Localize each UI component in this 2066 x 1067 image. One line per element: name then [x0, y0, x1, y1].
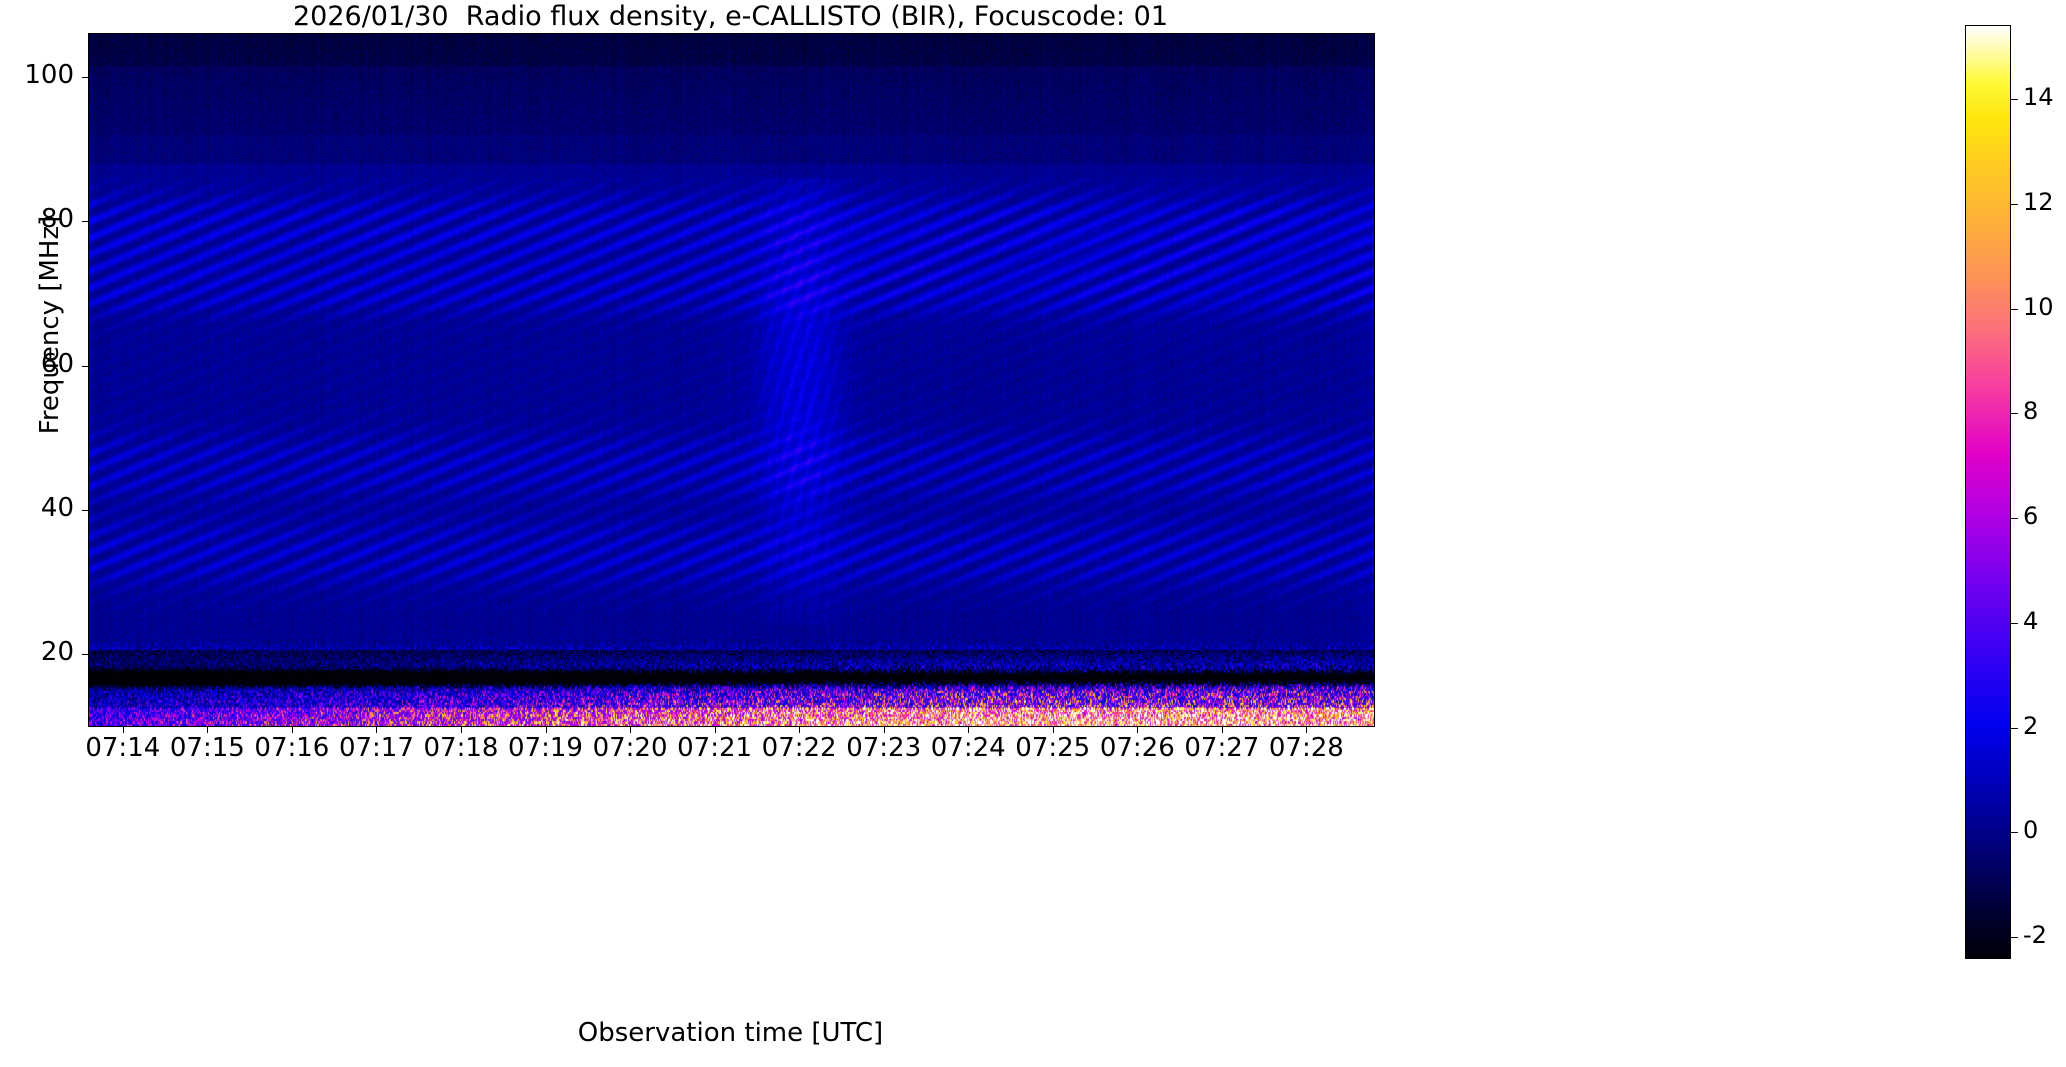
colorbar-tick-label: 6: [2023, 502, 2038, 530]
y-tick-label: 100: [0, 60, 74, 90]
x-tick-label: 07:28: [1246, 733, 1366, 763]
colorbar-tick-label: 4: [2023, 607, 2038, 635]
y-tick-mark: [82, 77, 89, 78]
x-tick-mark: [630, 726, 631, 733]
y-tick-label: 40: [0, 493, 74, 523]
y-tick-label: 20: [0, 637, 74, 667]
colorbar-tick-mark: [2010, 99, 2018, 100]
colorbar-tick-mark: [2010, 309, 2018, 310]
colorbar-gradient: [1966, 26, 2010, 958]
x-tick-mark: [968, 726, 969, 733]
colorbar-tick-mark: [2010, 518, 2018, 519]
colorbar-tick-mark: [2010, 413, 2018, 414]
x-tick-mark: [1306, 726, 1307, 733]
spectrogram-heatmap[interactable]: [89, 34, 1374, 726]
x-tick-mark: [546, 726, 547, 733]
colorbar-tick-mark: [2010, 937, 2018, 938]
colorbar-tick-mark: [2010, 832, 2018, 833]
colorbar-tick-label: 14: [2023, 83, 2054, 111]
y-tick-mark: [82, 510, 89, 511]
colorbar-tick-label: -2: [2023, 921, 2047, 949]
colorbar-tick-label: 12: [2023, 188, 2054, 216]
x-tick-mark: [1222, 726, 1223, 733]
colorbar-tick-label: 2: [2023, 712, 2038, 740]
x-tick-mark: [1137, 726, 1138, 733]
colorbar-tick-mark: [2010, 728, 2018, 729]
colorbar-tick-mark: [2010, 623, 2018, 624]
x-tick-mark: [799, 726, 800, 733]
colorbar-tick-label: 0: [2023, 816, 2038, 844]
y-tick-label: 60: [0, 349, 74, 379]
y-tick-label: 80: [0, 204, 74, 234]
colorbar-tick-label: 10: [2023, 293, 2054, 321]
x-tick-mark: [884, 726, 885, 733]
x-axis-label: Observation time [UTC]: [88, 1018, 1373, 1048]
x-tick-mark: [461, 726, 462, 733]
x-tick-mark: [123, 726, 124, 733]
x-tick-mark: [376, 726, 377, 733]
x-tick-mark: [292, 726, 293, 733]
y-tick-mark: [82, 654, 89, 655]
page-title: 2026/01/30 Radio flux density, e-CALLIST…: [88, 2, 1373, 32]
y-tick-mark: [82, 221, 89, 222]
x-tick-mark: [1053, 726, 1054, 733]
colorbar-tick-mark: [2010, 204, 2018, 205]
y-tick-mark: [82, 366, 89, 367]
spectrogram-axes[interactable]: [88, 33, 1375, 727]
x-tick-mark: [715, 726, 716, 733]
x-tick-mark: [207, 726, 208, 733]
colorbar-tick-label: 8: [2023, 397, 2038, 425]
colorbar[interactable]: [1965, 25, 2011, 959]
